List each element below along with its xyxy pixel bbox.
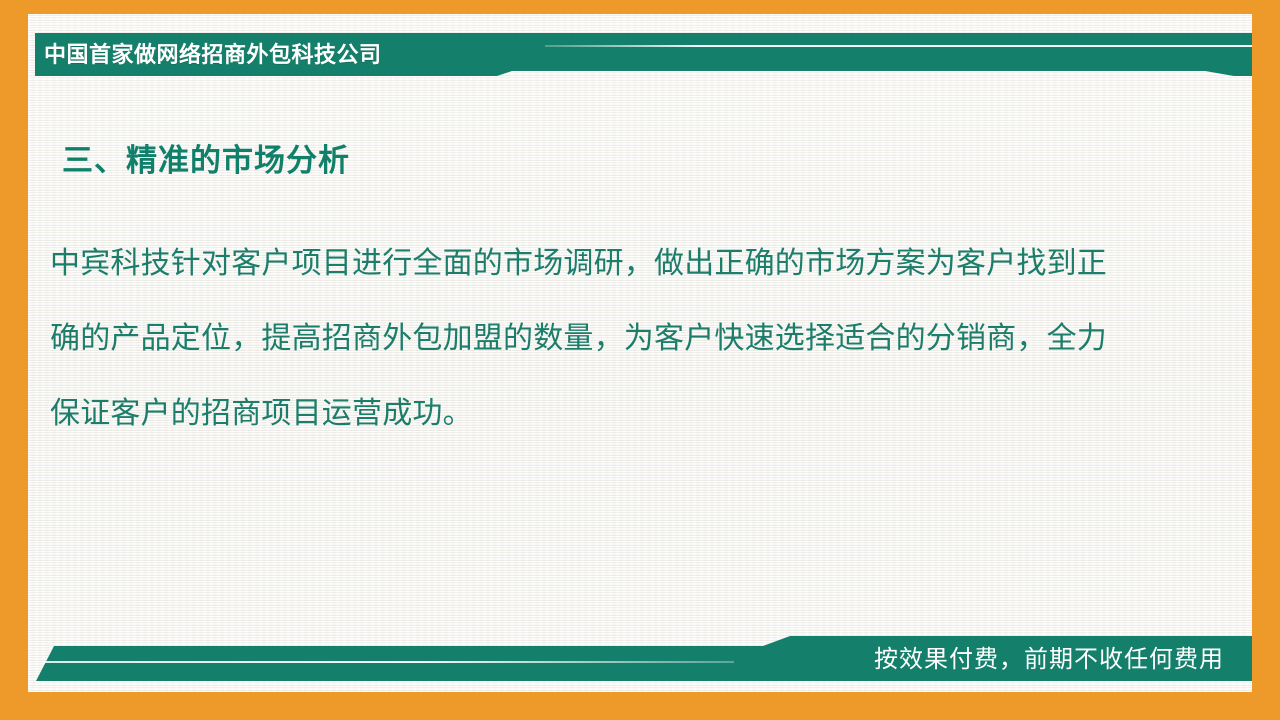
paragraph-line-2: 确的产品定位，提高招商外包加盟的数量，为客户快速选择适合的分销商，全力	[50, 301, 1190, 376]
header-divider-line	[545, 45, 1252, 47]
body-paragraph: 中宾科技针对客户项目进行全面的市场调研，做出正确的市场方案为客户找到正 确的产品…	[50, 226, 1190, 451]
paragraph-line-1: 中宾科技针对客户项目进行全面的市场调研，做出正确的市场方案为客户找到正	[50, 226, 1190, 301]
footer-banner: 按效果付费，前期不收任何费用	[28, 636, 1252, 692]
header-title: 中国首家做网络招商外包科技公司	[44, 34, 382, 75]
section-heading: 三、精准的市场分析	[62, 135, 350, 180]
footer-tagline: 按效果付费，前期不收任何费用	[28, 642, 1224, 678]
slide-canvas: 中国首家做网络招商外包科技公司 三、精准的市场分析 中宾科技针对客户项目进行全面…	[0, 0, 1280, 720]
paragraph-line-3: 保证客户的招商项目运营成功。	[50, 376, 1190, 451]
